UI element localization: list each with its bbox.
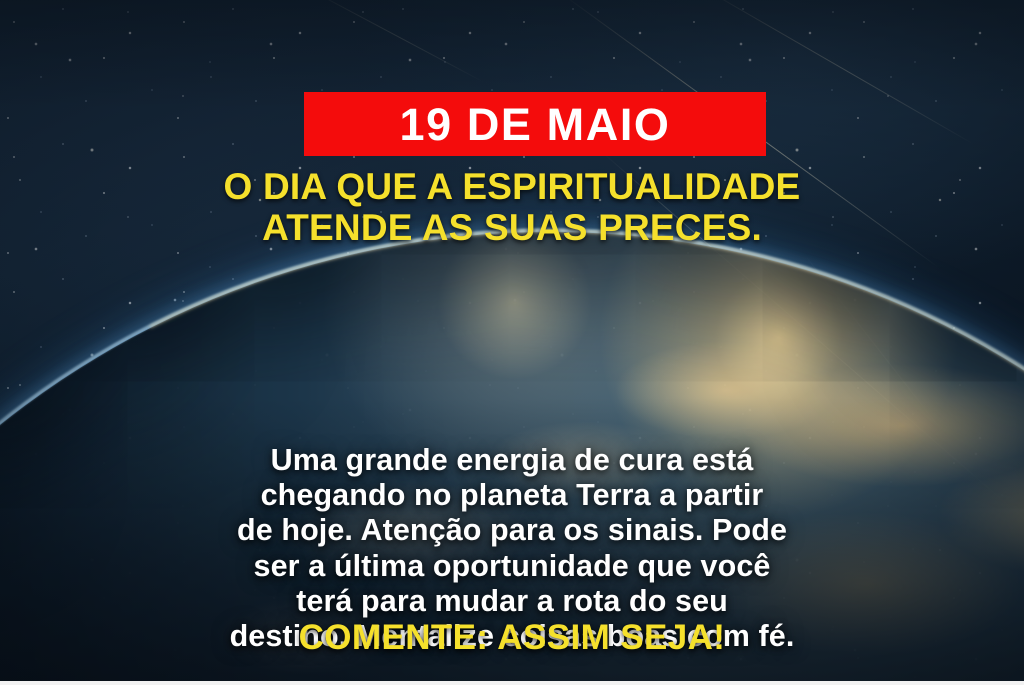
body-line-3: de hoje. Atenção para os sinais. Pode [46, 513, 978, 548]
body-line-2: chegando no planeta Terra a partir [46, 478, 978, 513]
headline-line-2: ATENDE AS SUAS PRECES. [0, 207, 1024, 248]
body-line-4: ser a última oportunidade que você [46, 549, 978, 584]
date-banner-label: 19 DE MAIO [399, 102, 670, 147]
bottom-strip [0, 681, 1024, 685]
poster-content: 19 DE MAIO O DIA QUE A ESPIRITUALIDADE A… [0, 0, 1024, 685]
headline: O DIA QUE A ESPIRITUALIDADE ATENDE AS SU… [0, 166, 1024, 249]
call-to-action-text: COMENTE: ASSIM SEJA! [0, 618, 1024, 658]
headline-line-1: O DIA QUE A ESPIRITUALIDADE [0, 166, 1024, 207]
body-line-1: Uma grande energia de cura está [46, 443, 978, 478]
date-banner: 19 DE MAIO [304, 92, 766, 156]
body-line-5: terá para mudar a rota do seu [46, 584, 978, 619]
poster-canvas: 19 DE MAIO O DIA QUE A ESPIRITUALIDADE A… [0, 0, 1024, 685]
